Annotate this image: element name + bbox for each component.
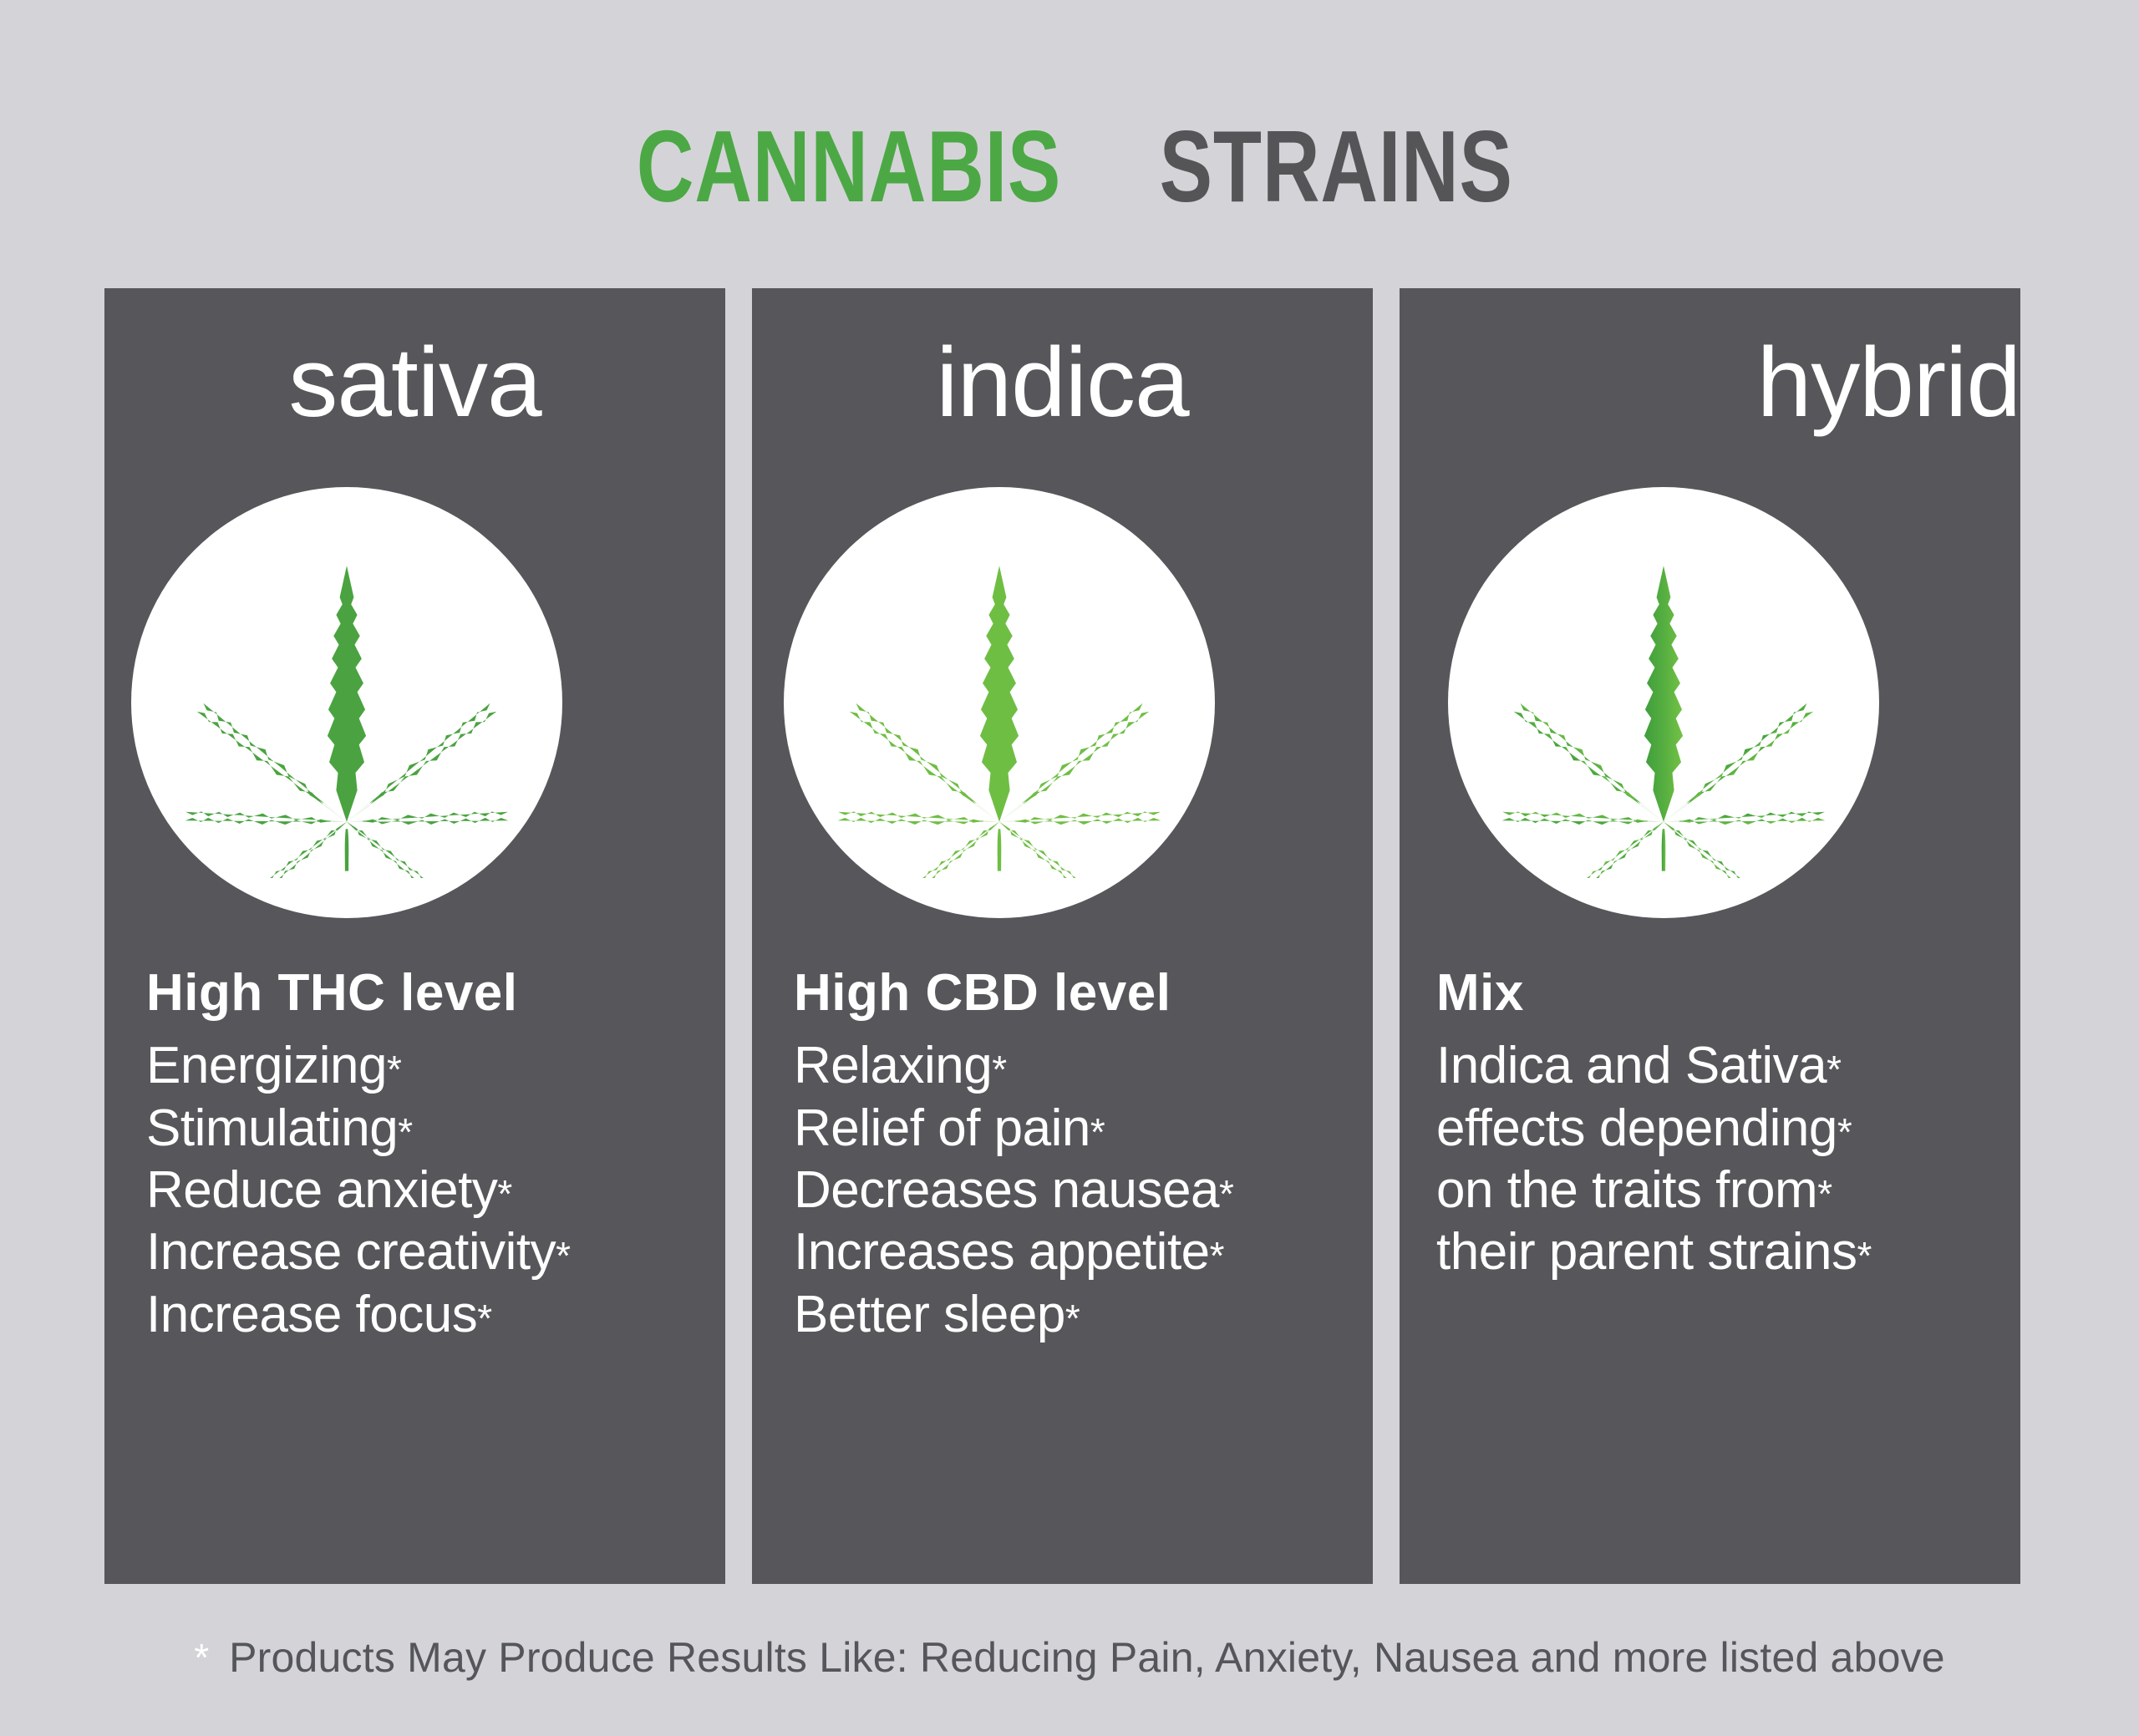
strain-heading-indica: indica <box>752 333 1373 432</box>
strain-card-row: sativa <box>104 288 2020 1584</box>
effect-item: Better sleep* <box>794 1284 1351 1346</box>
effect-item: Energizing* <box>146 1035 704 1097</box>
cannabis-leaf-icon <box>1488 527 1839 878</box>
leaf-badge-sativa <box>131 487 562 918</box>
asterisk-icon: * <box>1857 1234 1871 1277</box>
asterisk-icon: * <box>477 1297 491 1340</box>
effect-item: their parent strains* <box>1436 1221 2012 1283</box>
asterisk-icon: * <box>1827 1048 1841 1091</box>
effect-item: Stimulating* <box>146 1098 704 1160</box>
effect-item: Relaxing* <box>794 1035 1351 1097</box>
effect-item: Increase focus* <box>146 1284 704 1346</box>
asterisk-icon: * <box>1817 1172 1832 1216</box>
effect-list-indica: Relaxing* Relief of pain* Decreases naus… <box>794 1035 1351 1346</box>
effect-item: Reduce anxiety* <box>146 1160 704 1221</box>
asterisk-icon: * <box>497 1172 511 1216</box>
strain-body-indica: High CBD level Relaxing* Relief of pain*… <box>794 965 1351 1346</box>
asterisk-icon: * <box>556 1234 570 1277</box>
cannabis-leaf-icon <box>171 527 522 878</box>
asterisk-icon: * <box>1065 1297 1080 1340</box>
title-word-strains: STRAINS <box>1159 115 1512 217</box>
strain-body-sativa: High THC level Energizing* Stimulating* … <box>146 965 704 1346</box>
asterisk-icon: * <box>1837 1110 1852 1154</box>
footer-disclaimer: *Products May Produce Results Like: Redu… <box>0 1633 2139 1682</box>
footer-disclaimer-text: Products May Produce Results Like: Reduc… <box>229 1634 1945 1681</box>
strain-heading-hybrid: hybrid <box>1400 333 2060 432</box>
strain-body-hybrid: Mix Indica and Sativa* effects depending… <box>1436 965 2012 1284</box>
effect-item: on the traits from* <box>1436 1160 2012 1221</box>
cannabis-leaf-icon <box>824 527 1175 878</box>
asterisk-icon: * <box>194 1636 209 1679</box>
effect-list-sativa: Energizing* Stimulating* Reduce anxiety*… <box>146 1035 704 1346</box>
asterisk-icon: * <box>1210 1234 1224 1277</box>
leaf-badge-hybrid <box>1448 487 1879 918</box>
page-title: CANNABISSTRAINS <box>0 115 2139 217</box>
asterisk-icon: * <box>1219 1172 1233 1216</box>
strain-subtitle-indica: High CBD level <box>794 965 1351 1022</box>
strain-subtitle-hybrid: Mix <box>1436 965 2012 1022</box>
effect-item: Increases appetite* <box>794 1221 1351 1283</box>
effect-list-hybrid: Indica and Sativa* effects depending* on… <box>1436 1035 2012 1284</box>
effect-item: Indica and Sativa* <box>1436 1035 2012 1097</box>
title-word-cannabis: CANNABIS <box>637 115 1061 217</box>
effect-item: Decreases nausea* <box>794 1160 1351 1221</box>
leaf-badge-indica <box>784 487 1215 918</box>
strain-subtitle-sativa: High THC level <box>146 965 704 1022</box>
strain-card-indica[interactable]: indica <box>752 288 1373 1584</box>
asterisk-icon: * <box>398 1110 412 1154</box>
asterisk-icon: * <box>992 1048 1006 1091</box>
strain-card-hybrid[interactable]: hybrid <box>1400 288 2020 1584</box>
effect-item: Increase creativity* <box>146 1221 704 1283</box>
effect-item: Relief of pain* <box>794 1098 1351 1160</box>
asterisk-icon: * <box>387 1048 401 1091</box>
effect-item: effects depending* <box>1436 1098 2012 1160</box>
strain-heading-sativa: sativa <box>104 333 725 432</box>
asterisk-icon: * <box>1090 1110 1105 1154</box>
strain-card-sativa[interactable]: sativa <box>104 288 725 1584</box>
